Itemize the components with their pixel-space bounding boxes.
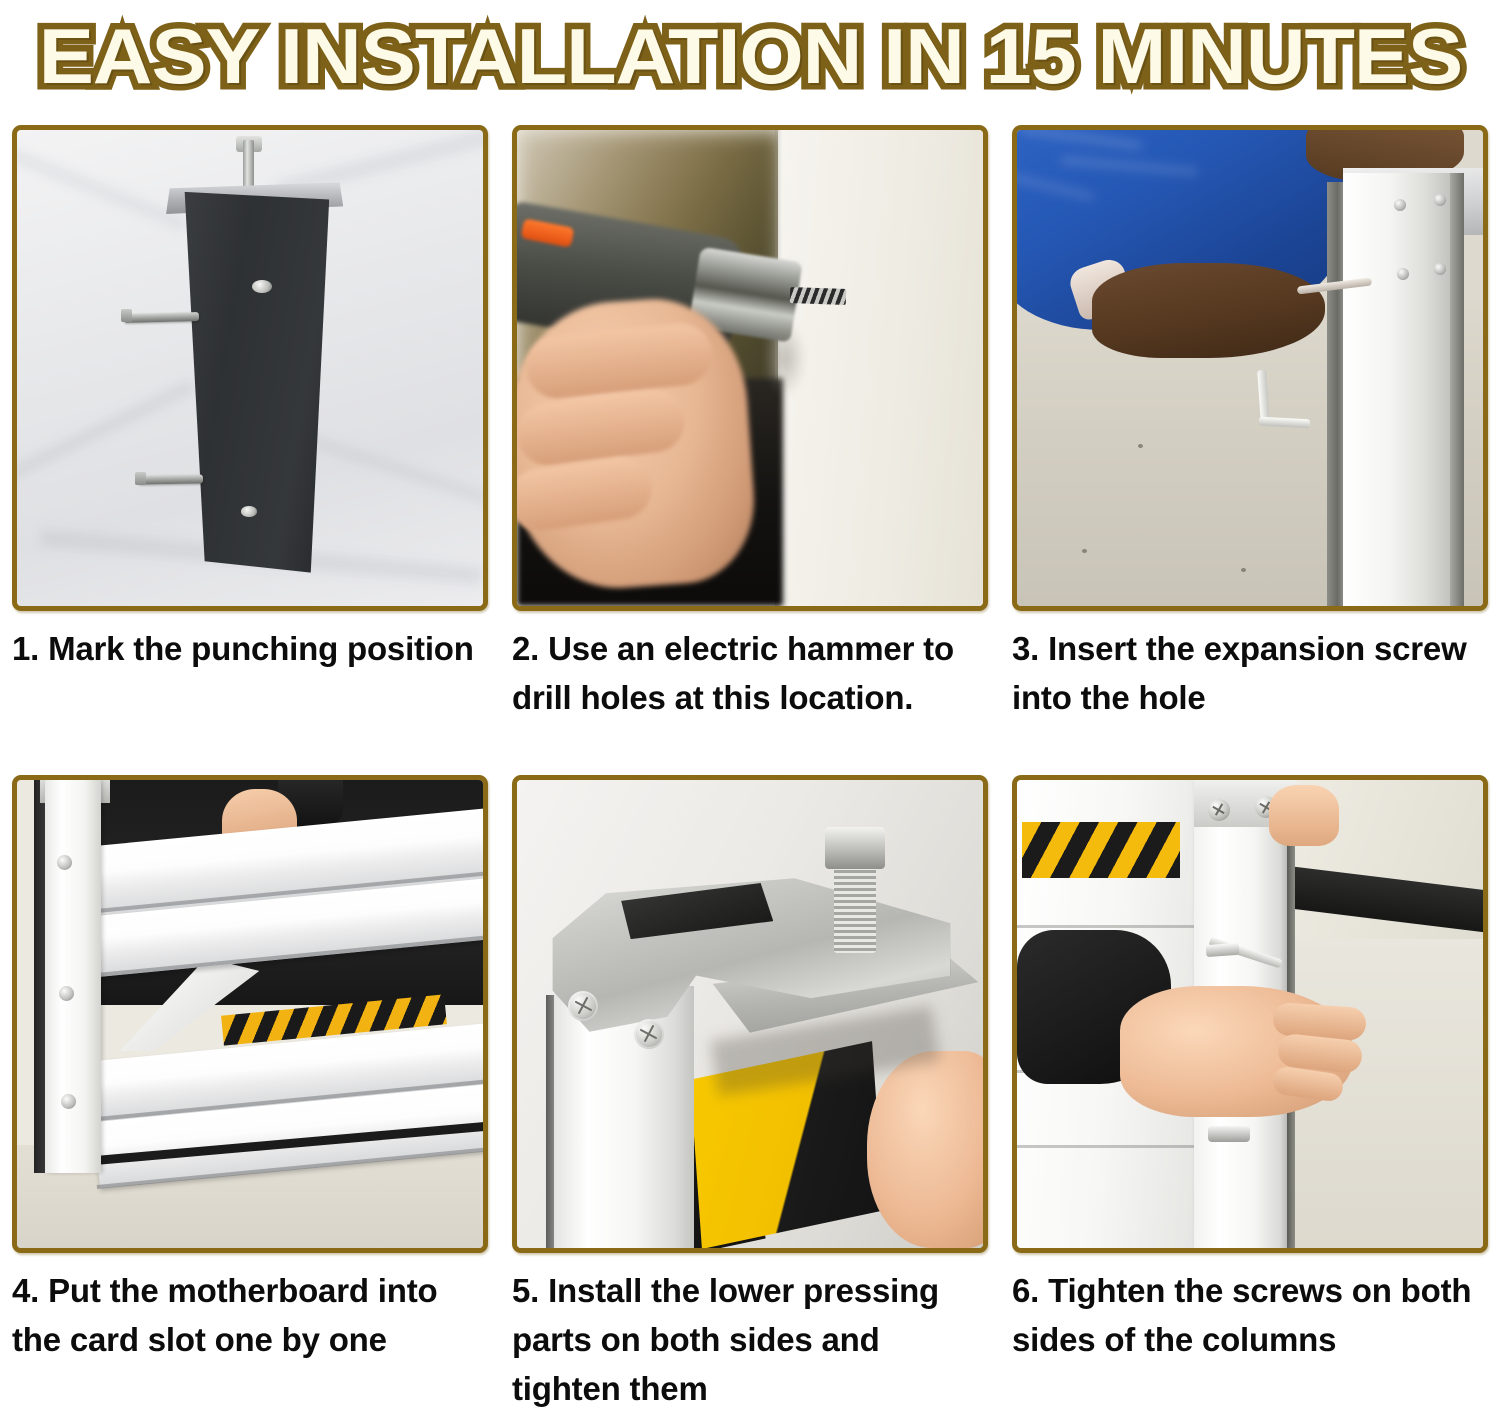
steps-row-bottom: 4. Put the motherboard into the card slo… [0, 762, 1500, 1403]
step-2-caption: 2. Use an electric hammer to drill holes… [512, 624, 992, 722]
step-card-1: 1. Mark the punching position [0, 112, 500, 762]
column-screw [1208, 799, 1230, 821]
hazard-stripe-tape [1022, 822, 1180, 878]
column-screw [1397, 268, 1409, 280]
step-5-caption: 5. Install the lower pressing parts on b… [512, 1266, 992, 1413]
bracket-screw [568, 991, 598, 1021]
step-6-tighten-column-screws-photo [1017, 780, 1483, 1248]
drill-bit-shape [789, 287, 845, 305]
step-card-4: 4. Put the motherboard into the card slo… [0, 762, 500, 1403]
step-6-photo-frame [1012, 775, 1488, 1253]
step-5-install-lower-pressing-parts-photo [517, 780, 983, 1248]
step-1-photo-frame [12, 125, 488, 611]
steps-row-top: 1. Mark the punching position [0, 112, 1500, 762]
drill-mark-hole-upper [252, 280, 272, 293]
white-column-shape [554, 986, 694, 1248]
steps-grid: 1. Mark the punching position [0, 112, 1500, 1403]
step-3-insert-expansion-screw-photo [1017, 130, 1483, 606]
column-screw [57, 855, 72, 870]
step-4-insert-motherboard-photo [17, 780, 483, 1248]
step-5-photo-frame [512, 775, 988, 1253]
column-screw [61, 1094, 76, 1109]
hex-bolt-shaft-shape [834, 855, 876, 953]
page-title: EASY INSTALLATION IN 15 MINUTES [38, 17, 1461, 95]
bolt-shaft-shape [243, 140, 254, 192]
step-3-caption: 3. Insert the expansion screw into the h… [1012, 624, 1492, 722]
step-1-mark-punching-position-photo [17, 130, 483, 606]
step-card-3: 3. Insert the expansion screw into the h… [1000, 112, 1500, 762]
infographic-header: EASY INSTALLATION IN 15 MINUTES [0, 0, 1500, 112]
column-screw [1208, 1126, 1250, 1142]
step-2-photo-frame [512, 125, 988, 611]
step-3-photo-frame [1012, 125, 1488, 611]
wall-surface-shape [778, 130, 983, 606]
step-4-photo-frame [12, 775, 488, 1253]
column-screw [59, 986, 74, 1001]
step-card-5: 5. Install the lower pressing parts on b… [500, 762, 1000, 1403]
step-card-2: 2. Use an electric hammer to drill holes… [500, 112, 1000, 762]
step-2-drill-holes-photo [517, 130, 983, 606]
step-4-caption: 4. Put the motherboard into the card slo… [12, 1266, 492, 1364]
white-column-shape [1343, 173, 1450, 606]
bracket-screw [634, 1019, 664, 1049]
worker-arm-shape [1092, 263, 1325, 358]
step-1-caption: 1. Mark the punching position [12, 624, 492, 673]
expansion-pin-lower [138, 475, 203, 485]
white-column-shape [45, 780, 101, 1173]
step-6-caption: 6. Tighten the screws on both sides of t… [1012, 1266, 1492, 1364]
hand-shape [867, 1051, 984, 1248]
expansion-pin-upper [124, 312, 199, 323]
step-card-6: 6. Tighten the screws on both sides of t… [1000, 762, 1500, 1403]
